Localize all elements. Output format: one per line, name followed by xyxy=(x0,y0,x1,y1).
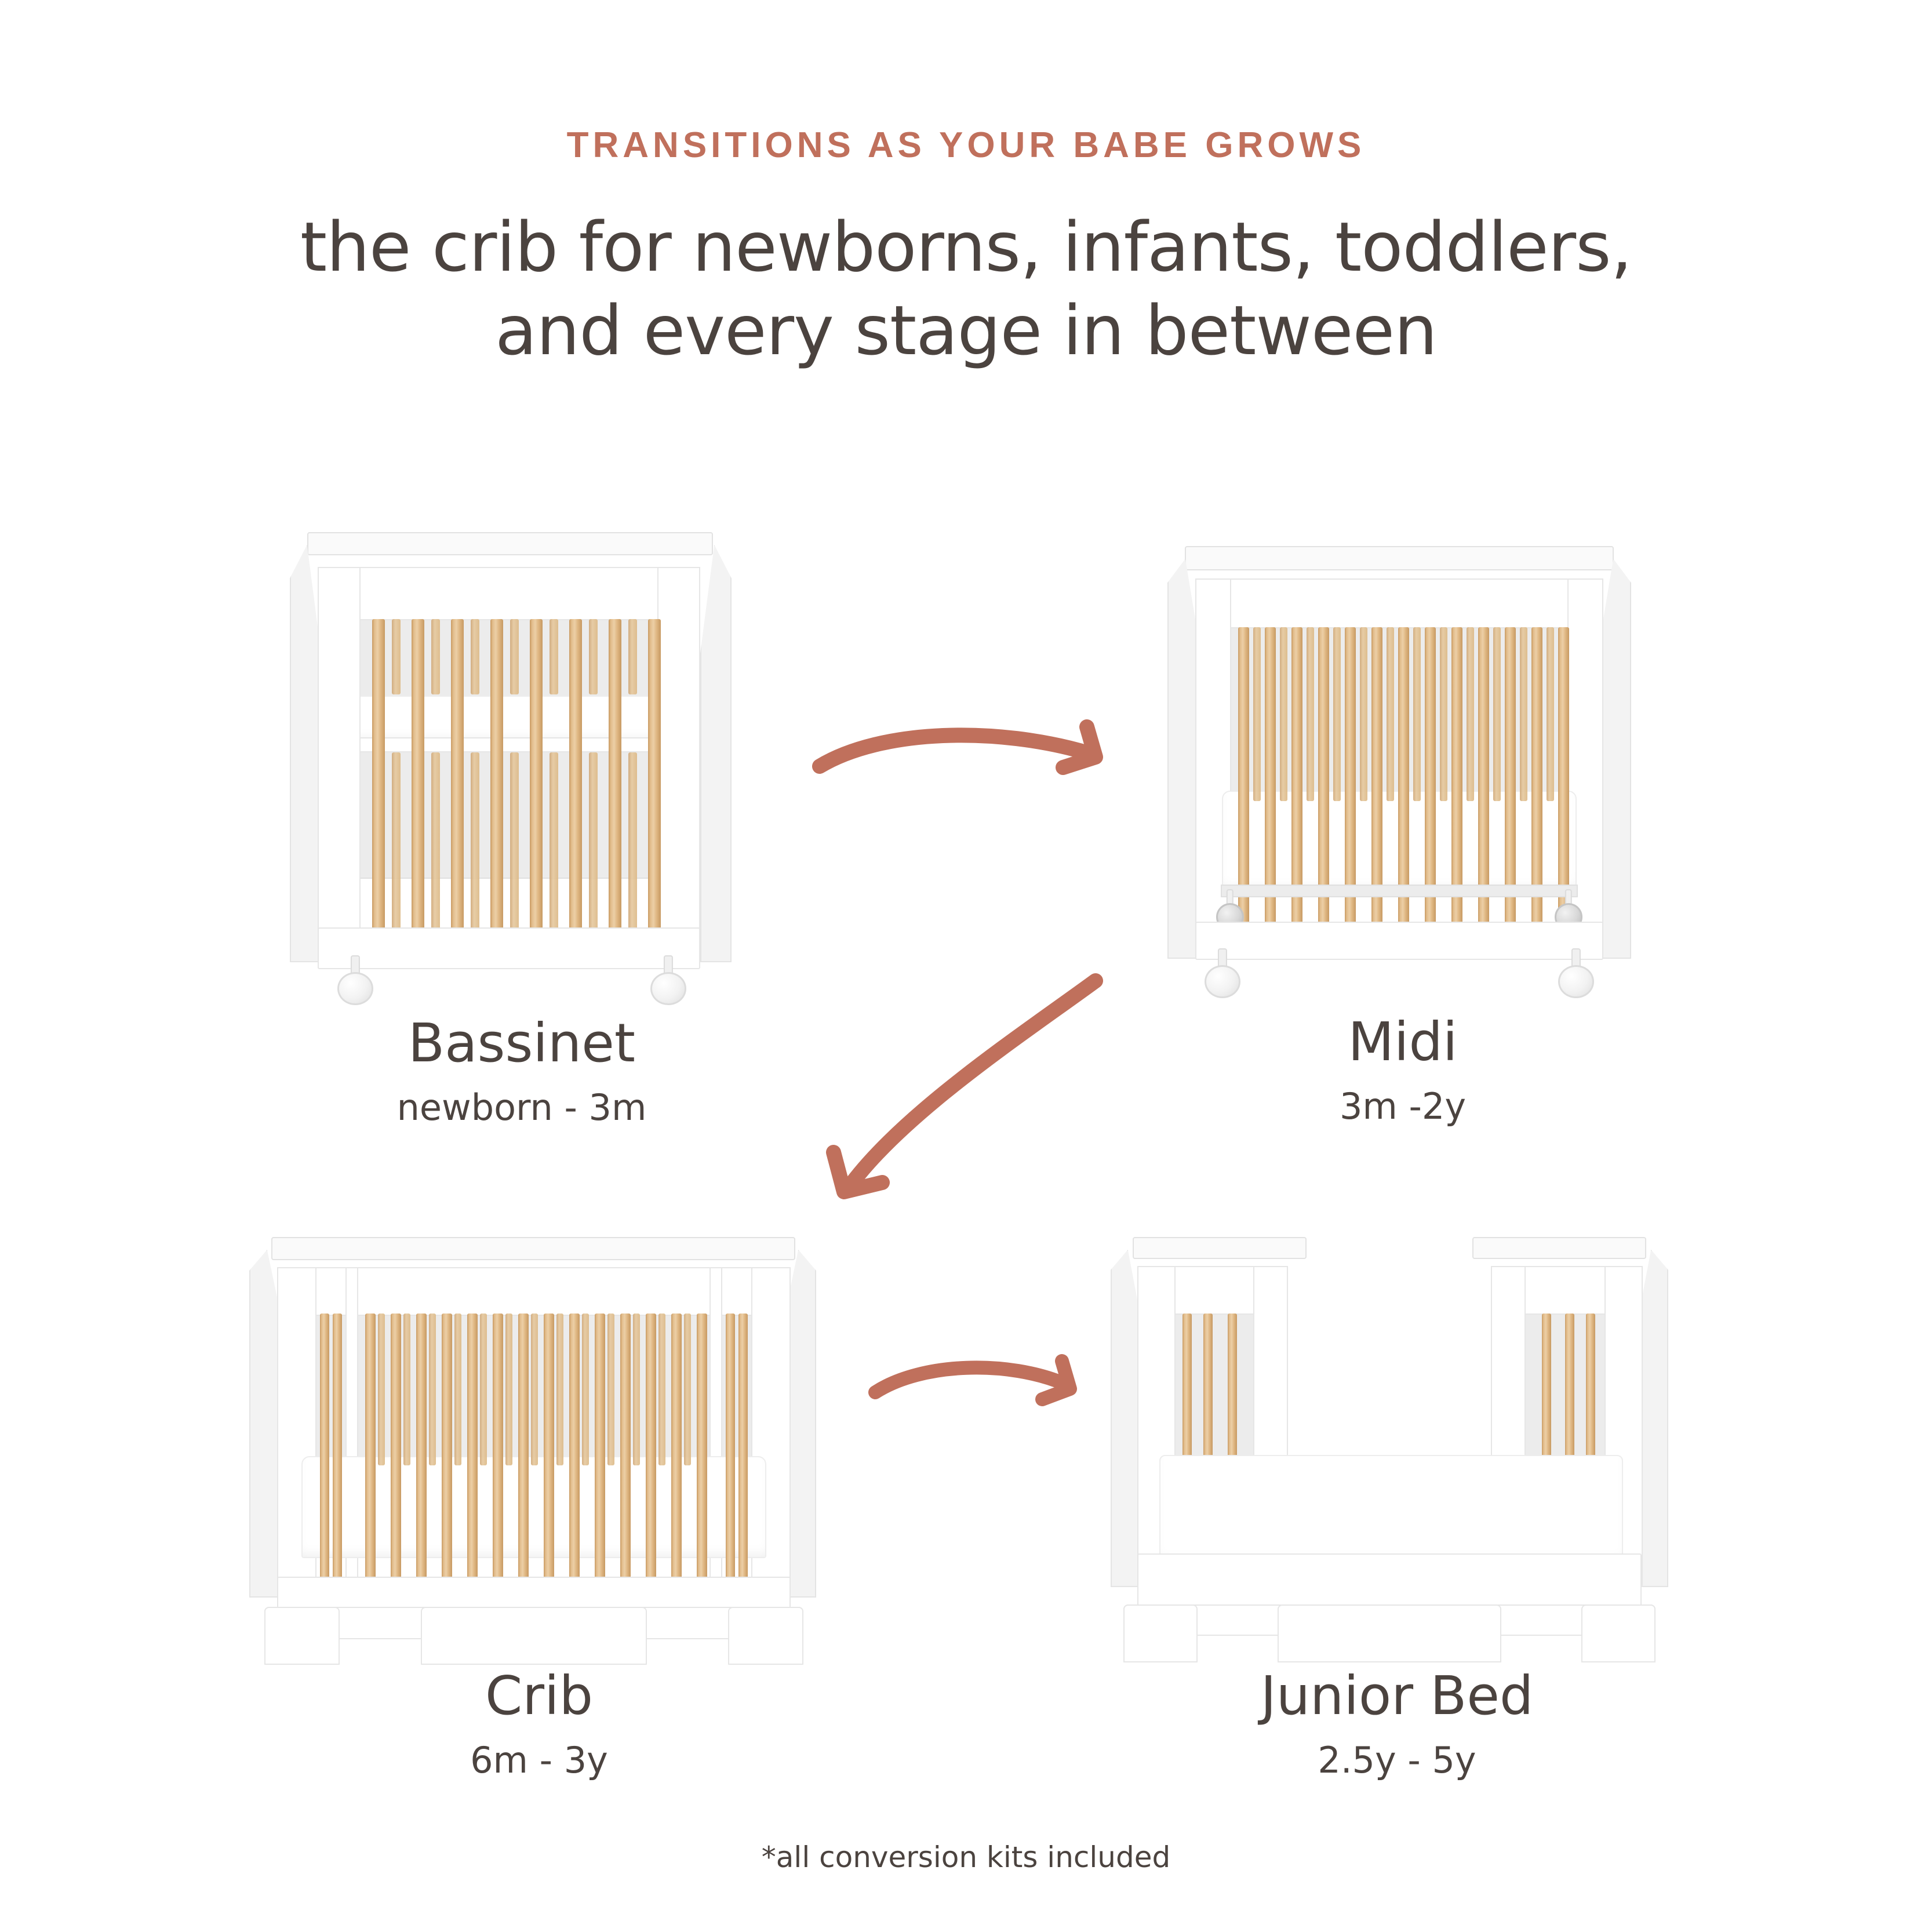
bassinet-slat-back xyxy=(628,619,637,694)
stage-label-midi: Midi xyxy=(1148,1016,1658,1069)
crib-slat xyxy=(726,1314,735,1587)
midi-slat xyxy=(1425,627,1436,926)
stage-age-bassinet: newborn - 3m xyxy=(272,1090,771,1126)
bassinet-slat-back xyxy=(471,619,479,694)
conversion-kit-note: *all conversion kits included xyxy=(0,1840,1932,1874)
headline-line-2: and every stage in between xyxy=(0,289,1932,373)
midi-slat xyxy=(1398,627,1409,926)
junior-right-far-rail xyxy=(1472,1237,1646,1259)
midi-slat-back xyxy=(1493,627,1501,801)
midi-base-rail xyxy=(1195,922,1603,960)
midi-slat xyxy=(1371,627,1382,926)
crib-slat xyxy=(493,1314,503,1587)
midi-slat xyxy=(1291,627,1302,926)
bassinet-slat-back xyxy=(510,752,519,932)
junior-mattress xyxy=(1159,1455,1623,1563)
bassinet-caster-left xyxy=(337,955,373,1005)
midi-slat xyxy=(1318,627,1329,926)
arrow-bassinet-to-midi xyxy=(806,713,1130,829)
crib-slat xyxy=(697,1314,707,1587)
stage-label-crib: Crib xyxy=(232,1669,846,1723)
crib-slat-back xyxy=(505,1314,512,1465)
midi-slat-back xyxy=(1387,627,1394,801)
midi-slat-back xyxy=(1520,627,1527,801)
bassinet-slat-back xyxy=(589,619,598,694)
crib-slat-back xyxy=(556,1314,563,1465)
crib-slat-back xyxy=(378,1314,385,1465)
crib-slat-back xyxy=(454,1314,461,1465)
midi-caster-left xyxy=(1205,948,1240,998)
stage-age-junior-bed: 2.5y - 5y xyxy=(1090,1742,1704,1778)
midi-caster-right xyxy=(1558,948,1594,998)
crib-slat xyxy=(569,1314,580,1587)
bassinet-slat xyxy=(609,619,621,933)
headline-line-1: the crib for newborns, infants, toddlers… xyxy=(300,207,1632,287)
bassinet-right-post xyxy=(657,567,700,938)
crib-slat xyxy=(320,1314,329,1587)
bassinet-slat-back xyxy=(550,752,558,932)
midi-slat xyxy=(1531,627,1542,926)
midi-slat-back xyxy=(1467,627,1474,801)
midi-slat xyxy=(1478,627,1489,926)
stage-label-junior-bed: Junior Bed xyxy=(1090,1669,1704,1723)
bassinet-slat-back xyxy=(589,752,598,932)
crib-far-rail xyxy=(271,1237,795,1260)
midi-slat xyxy=(1345,627,1356,926)
bassinet-slat xyxy=(412,619,424,933)
crib-slat xyxy=(544,1314,554,1587)
stage-age-midi: 3m -2y xyxy=(1148,1089,1658,1125)
crib-slat-back xyxy=(531,1314,538,1465)
junior-bed-icon xyxy=(1090,1229,1704,1635)
bassinet-slat-back xyxy=(550,619,558,694)
midi-slat-back xyxy=(1440,627,1447,801)
stage-card-midi: Midi 3m -2y xyxy=(1148,539,1658,1125)
crib-slat-back xyxy=(684,1314,691,1465)
crib-slat-back xyxy=(403,1314,410,1465)
bassinet-icon xyxy=(272,522,771,985)
arrow-midi-to-crib xyxy=(794,968,1154,1211)
crib-slat xyxy=(738,1314,748,1587)
crib-slat xyxy=(391,1314,401,1587)
bassinet-left-wall xyxy=(290,545,321,962)
crib-slat-back xyxy=(607,1314,614,1465)
bassinet-slat-back xyxy=(510,619,519,694)
crib-slat xyxy=(442,1314,452,1587)
stage-card-bassinet: Bassinet newborn - 3m xyxy=(272,522,771,1126)
bassinet-slat xyxy=(569,619,582,933)
midi-slat xyxy=(1558,627,1569,926)
arrow-crib-to-junior xyxy=(864,1351,1107,1443)
bassinet-right-wall xyxy=(700,545,732,962)
midi-slat-back xyxy=(1280,627,1287,801)
midi-slat-back xyxy=(1333,627,1341,801)
bassinet-caster-right xyxy=(650,955,686,1005)
midi-slat-back xyxy=(1360,627,1367,801)
page-title: the crib for newborns, infants, toddlers… xyxy=(0,206,1932,373)
midi-slat xyxy=(1238,627,1249,926)
bassinet-slat xyxy=(648,619,661,933)
crib-slat xyxy=(595,1314,605,1587)
stage-age-crib: 6m - 3y xyxy=(232,1742,846,1778)
bassinet-slat-back xyxy=(431,619,440,694)
stage-card-junior-bed: Junior Bed 2.5y - 5y xyxy=(1090,1229,1704,1778)
bassinet-top-rail xyxy=(318,567,700,620)
crib-slat xyxy=(646,1314,656,1587)
midi-crib-icon xyxy=(1148,539,1658,985)
eyebrow-heading: TRANSITIONS AS YOUR BABE GROWS xyxy=(0,125,1932,166)
bassinet-deck-rail xyxy=(337,737,683,752)
midi-slat xyxy=(1505,627,1516,926)
bassinet-slat xyxy=(372,619,385,933)
bassinet-slat-back xyxy=(628,752,637,932)
crib-slat xyxy=(620,1314,631,1587)
bassinet-slat xyxy=(530,619,543,933)
crib-slat xyxy=(467,1314,478,1587)
midi-slat-back xyxy=(1253,627,1261,801)
crib-slat xyxy=(518,1314,529,1587)
stage-label-bassinet: Bassinet xyxy=(272,1017,771,1070)
crib-icon xyxy=(232,1229,846,1635)
crib-slat-back xyxy=(480,1314,487,1465)
midi-slat xyxy=(1451,627,1462,926)
midi-slat-back xyxy=(1547,627,1554,801)
stage-card-crib: Crib 6m - 3y xyxy=(232,1229,846,1778)
crib-slat xyxy=(365,1314,376,1587)
bassinet-slat-back xyxy=(392,752,401,932)
midi-slat-back xyxy=(1307,627,1314,801)
crib-feet xyxy=(264,1607,803,1665)
crib-slat-back xyxy=(633,1314,640,1465)
junior-feet xyxy=(1123,1604,1656,1662)
midi-far-rail xyxy=(1185,546,1614,570)
bassinet-mattress xyxy=(348,696,672,742)
bassinet-slat xyxy=(490,619,503,933)
crib-slat-back xyxy=(582,1314,589,1465)
crib-slat-back xyxy=(429,1314,436,1465)
bassinet-base-rail xyxy=(318,927,700,969)
bassinet-far-rail xyxy=(307,532,713,555)
crib-slat xyxy=(333,1314,342,1587)
bassinet-slat-back xyxy=(471,752,479,932)
crib-slat xyxy=(671,1314,682,1587)
midi-slat xyxy=(1265,627,1276,926)
bassinet-slat-back xyxy=(392,619,401,694)
bassinet-left-post xyxy=(318,567,361,938)
junior-base-rail xyxy=(1137,1553,1642,1609)
junior-left-far-rail xyxy=(1133,1237,1307,1259)
crib-slat xyxy=(416,1314,427,1587)
bassinet-slat xyxy=(451,619,464,933)
bassinet-slat-back xyxy=(431,752,440,932)
crib-slat-back xyxy=(658,1314,665,1465)
midi-right-wall xyxy=(1599,559,1631,959)
midi-support-rail xyxy=(1221,885,1578,897)
midi-slat-back xyxy=(1413,627,1421,801)
midi-top-rail xyxy=(1195,578,1603,628)
infographic-page: TRANSITIONS AS YOUR BABE GROWS the crib … xyxy=(0,0,1932,1932)
